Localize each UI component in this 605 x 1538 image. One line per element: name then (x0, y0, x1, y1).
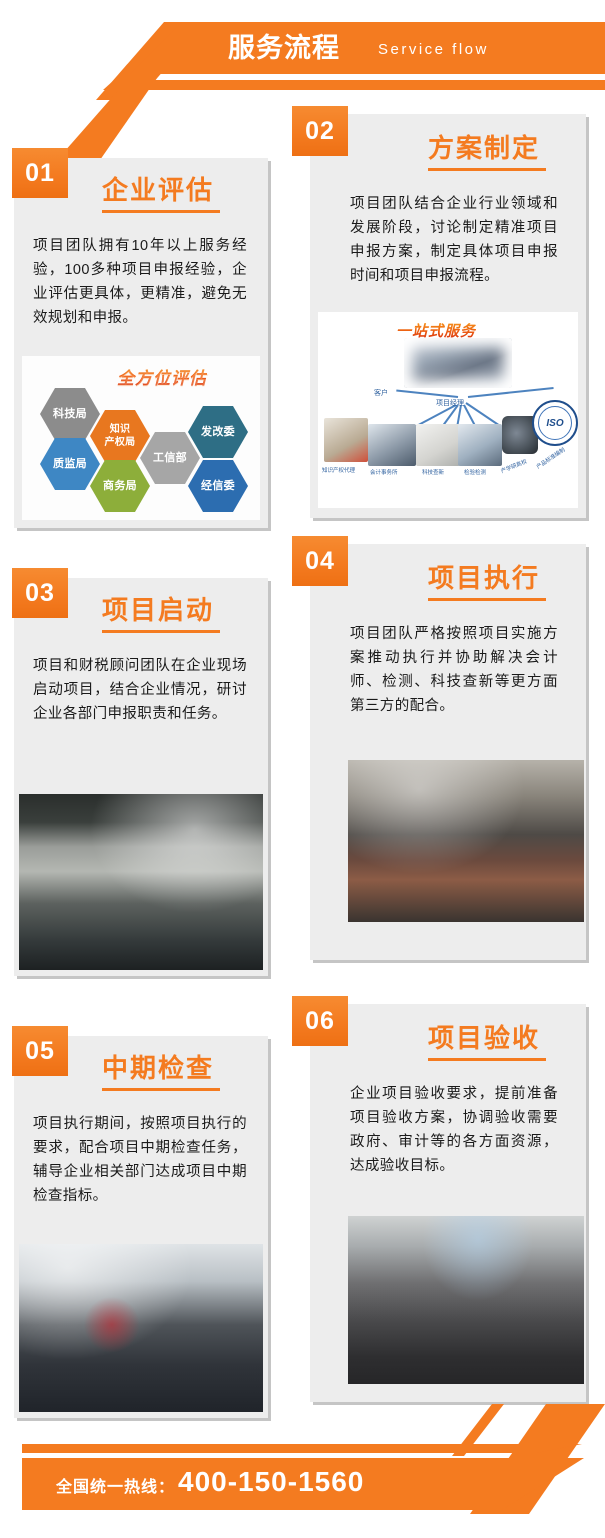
card-02-title-rule (428, 168, 546, 171)
card-03-title: 项目启动 (102, 590, 214, 627)
hexagon-node-keji: 科技局 (40, 388, 100, 440)
card-03-photo (19, 794, 263, 970)
page-header: 服务流程 Service flow (0, 0, 605, 108)
card-01-body: 项目团队拥有10年以上服务经验，100多种项目申报经验，企业评估更具体，更精准，… (33, 234, 247, 330)
hexagon-diagram-title: 全方位评估 (117, 364, 207, 389)
card-02-media: 一站式服务 客户 项目经理 ISO 知识产权代理 会计事务所 科技 (318, 312, 578, 508)
page-title: 服务流程 (228, 28, 340, 68)
card-02-badge: 02 (292, 106, 348, 156)
card-05-title: 中期检查 (102, 1048, 214, 1085)
service-diagram-team-photo (404, 338, 512, 388)
card-01-title: 企业评估 (102, 170, 214, 207)
hotline-label: 全国统一热线： (56, 1473, 175, 1497)
service-node-manager: 项目经理 (436, 398, 464, 408)
card-01-media: 全方位评估 科技局 知识 产权局 质监局 工信部 商务局 发改委 经信委 (22, 356, 260, 520)
card-04-title-rule (428, 598, 546, 601)
service-leaf-accounting: 会计事务所 (370, 468, 398, 476)
card-01-badge: 01 (12, 148, 68, 198)
service-tile-testing (458, 424, 502, 466)
service-leaf-standard: 产品标准编制 (535, 445, 567, 470)
card-05: 05 中期检查 项目执行期间，按照项目执行的要求，配合项目中期检查任务，辅导企业… (14, 1036, 268, 1418)
service-leaf-search: 科技查新 (422, 468, 444, 476)
card-03-body: 项目和财税顾问团队在企业现场启动项目，结合企业情况，研讨企业各部门申报职责和任务… (33, 654, 247, 726)
hexagon-node-fagai: 发改委 (188, 406, 248, 458)
service-leaf-university: 产学研高校 (500, 457, 529, 475)
card-06: 06 项目验收 企业项目验收要求，提前准备项目验收方案，协调验收需要政府、审计等… (310, 1004, 586, 1402)
card-04-photo (348, 760, 584, 922)
service-arrow-to-standard (468, 387, 554, 398)
header-stripe (103, 80, 605, 90)
card-03: 03 项目启动 项目和财税顾问团队在企业现场启动项目，结合企业情况，研讨企业各部… (14, 578, 268, 976)
card-02-body: 项目团队结合企业行业领域和发展阶段，讨论制定精准项目申报方案，制定具体项目申报时… (350, 192, 558, 288)
footer-stripe (22, 1444, 582, 1453)
hexagon-node-gongxin: 工信部 (140, 432, 200, 484)
service-tile-ip (324, 418, 368, 462)
card-02-title: 方案制定 (428, 128, 540, 165)
page-subtitle: Service flow (378, 38, 489, 62)
card-02: 02 方案制定 项目团队结合企业行业领域和发展阶段，讨论制定精准项目申报方案，制… (310, 114, 586, 518)
hexagon-node-shangwu: 商务局 (90, 460, 150, 512)
card-04-badge: 04 (292, 536, 348, 586)
card-05-photo (19, 1244, 263, 1412)
card-04: 04 项目执行 项目团队严格按照项目实施方案推动执行并协助解决会计师、检测、科技… (310, 544, 586, 960)
hotline-number[interactable]: 400-150-1560 (178, 1466, 364, 1498)
service-node-customer: 客户 (374, 388, 388, 398)
card-03-title-rule (102, 630, 220, 633)
card-05-badge: 05 (12, 1026, 68, 1076)
card-01: 01 企业评估 项目团队拥有10年以上服务经验，100多种项目申报经验，企业评估… (14, 158, 268, 528)
service-leaf-testing: 检验检测 (464, 468, 486, 476)
service-arrow-to-customer (396, 390, 458, 398)
card-06-title-rule (428, 1058, 546, 1061)
hexagon-node-zhishichanquan: 知识 产权局 (90, 410, 150, 462)
card-01-title-rule (102, 210, 220, 213)
card-06-title: 项目验收 (428, 1018, 540, 1055)
card-04-body: 项目团队严格按照项目实施方案推动执行并协助解决会计师、检测、科技查新等更方面第三… (350, 622, 558, 718)
header-banner (130, 22, 605, 74)
card-04-title: 项目执行 (428, 558, 540, 595)
hexagon-node-zhijian: 质监局 (40, 438, 100, 490)
card-06-photo (348, 1216, 584, 1384)
card-03-badge: 03 (12, 568, 68, 618)
card-06-badge: 06 (292, 996, 348, 1046)
service-tile-accounting (368, 424, 416, 466)
card-05-title-rule (102, 1088, 220, 1091)
service-flow-infographic: 服务流程 Service flow 01 企业评估 项目团队拥有10年以上服务经… (0, 0, 605, 1538)
card-06-body: 企业项目验收要求，提前准备项目验收方案，协调验收需要政府、审计等的各方面资源，达… (350, 1082, 558, 1178)
hexagon-node-jingxin: 经信委 (188, 460, 248, 512)
service-tile-search (416, 424, 460, 466)
service-seal-icon: ISO (532, 400, 578, 446)
service-leaf-ip: 知识产权代理 (322, 466, 355, 474)
card-05-body: 项目执行期间，按照项目执行的要求，配合项目中期检查任务，辅导企业相关部门达成项目… (33, 1112, 247, 1208)
